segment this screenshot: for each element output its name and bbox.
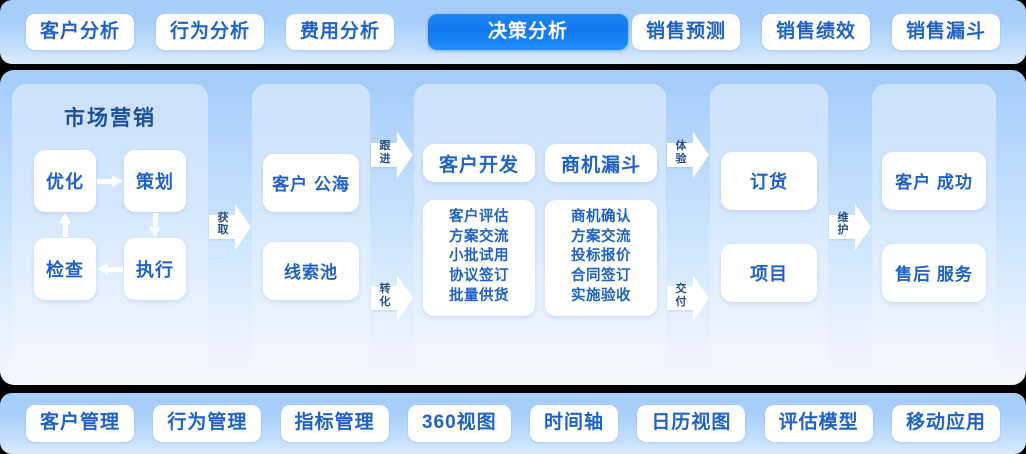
- card-customer-success[interactable]: 客户 成功: [882, 152, 986, 210]
- list-customer-development[interactable]: 客户评估 方案交流 小批试用 协议签订 批量供货: [423, 200, 535, 316]
- connector-slot-top: 体验: [666, 84, 710, 227]
- center-lists: 客户评估 方案交流 小批试用 协议签订 批量供货 商机确认 方案交流 投标报价 …: [423, 200, 657, 316]
- top-tab-bar: 客户分析 行为分析 费用分析 决策分析 销售预测 销售绩效 销售漏斗: [0, 0, 1026, 64]
- connector-delivery-label: 交付: [671, 283, 691, 309]
- pdca-cycle: 优化 策划 检查 执行: [34, 150, 186, 300]
- decision-flow-panel: 市场营销 优化 策划 检查 执行 获: [0, 70, 1026, 385]
- stage-marketing[interactable]: 市场营销 优化 策划 检查 执行: [12, 84, 208, 369]
- card-order[interactable]: 订货: [721, 152, 817, 210]
- tab-behavior-management[interactable]: 行为管理: [153, 405, 261, 442]
- stage-order-project[interactable]: 订货 项目: [710, 84, 828, 369]
- arrow-down-icon: [149, 213, 162, 237]
- tab-sales-funnel[interactable]: 销售漏斗: [892, 14, 1000, 51]
- arrow-right-icon: [97, 175, 123, 188]
- card-after-sales[interactable]: 售后 服务: [882, 244, 986, 302]
- tab-decision-analysis[interactable]: 决策分析: [428, 14, 628, 51]
- connector-followup-convert: 跟进 转化: [370, 84, 414, 369]
- tab-calendar-view[interactable]: 日历视图: [637, 405, 745, 442]
- tab-mobile-app[interactable]: 移动应用: [892, 405, 1000, 442]
- connector-maintain: 维护: [828, 84, 872, 369]
- connector-maintain-label: 维护: [833, 212, 853, 238]
- connector-experience-label: 体验: [671, 140, 691, 166]
- list-opportunity-funnel[interactable]: 商机确认 方案交流 投标报价 合同签订 实施验收: [545, 200, 657, 316]
- tab-sales-forecast[interactable]: 销售预测: [632, 14, 740, 51]
- arrow-followup-icon: 跟进: [371, 132, 413, 178]
- connector-acquire: 获取: [208, 84, 252, 369]
- tab-360-view[interactable]: 360视图: [408, 405, 511, 442]
- connector-acquire-label: 获取: [213, 212, 233, 238]
- bottom-tab-bar: 客户管理 行为管理 指标管理 360视图 时间轴 日历视图 评估模型 移动应用: [0, 393, 1026, 454]
- stage-customer-pool[interactable]: 客户 公海 线索池: [252, 84, 370, 369]
- node-execute[interactable]: 执行: [124, 238, 186, 300]
- card-public-sea[interactable]: 客户 公海: [263, 154, 359, 212]
- node-plan[interactable]: 策划: [124, 150, 186, 212]
- card-project[interactable]: 项目: [721, 244, 817, 302]
- arrow-up-icon: [59, 213, 72, 237]
- connector-slot-top: 跟进: [370, 84, 414, 227]
- tab-behavior-analysis[interactable]: 行为分析: [156, 14, 264, 51]
- tab-customer-analysis[interactable]: 客户分析: [26, 14, 134, 51]
- connector-experience-delivery: 体验 交付: [666, 84, 710, 369]
- marketing-title: 市场营销: [64, 102, 156, 132]
- app-root: 客户分析 行为分析 费用分析 决策分析 销售预测 销售绩效 销售漏斗 市场营销 …: [0, 0, 1026, 454]
- arrow-delivery-icon: 交付: [667, 275, 709, 321]
- connector-convert-label: 转化: [375, 283, 395, 309]
- arrow-experience-icon: 体验: [667, 132, 709, 178]
- tab-evaluation-model[interactable]: 评估模型: [765, 405, 873, 442]
- card-customer-development[interactable]: 客户开发: [423, 144, 535, 182]
- tab-metric-management[interactable]: 指标管理: [281, 405, 389, 442]
- flow-row: 市场营销 优化 策划 检查 执行 获: [0, 70, 1026, 385]
- node-optimize[interactable]: 优化: [34, 150, 96, 212]
- tab-sales-performance[interactable]: 销售绩效: [762, 14, 870, 51]
- connector-followup-label: 跟进: [375, 140, 395, 166]
- arrow-left-icon: [97, 263, 123, 276]
- tab-expense-analysis[interactable]: 费用分析: [286, 14, 394, 51]
- tab-customer-management[interactable]: 客户管理: [26, 405, 134, 442]
- arrow-acquire-icon: 获取: [209, 204, 251, 250]
- connector-slot-bottom: 转化: [370, 227, 414, 370]
- arrow-maintain-icon: 维护: [829, 204, 871, 250]
- stage-opportunity[interactable]: 客户开发 商机漏斗 客户评估 方案交流 小批试用 协议签订 批量供货 商机确认 …: [414, 84, 666, 369]
- center-headers: 客户开发 商机漏斗: [423, 144, 657, 182]
- arrow-convert-icon: 转化: [371, 275, 413, 321]
- card-opportunity-funnel[interactable]: 商机漏斗: [545, 144, 657, 182]
- node-check[interactable]: 检查: [34, 238, 96, 300]
- connector-slot-bottom: 交付: [666, 227, 710, 370]
- stage-customer-success[interactable]: 客户 成功 售后 服务: [872, 84, 996, 369]
- tab-timeline[interactable]: 时间轴: [530, 405, 618, 442]
- card-lead-pool[interactable]: 线索池: [263, 242, 359, 300]
